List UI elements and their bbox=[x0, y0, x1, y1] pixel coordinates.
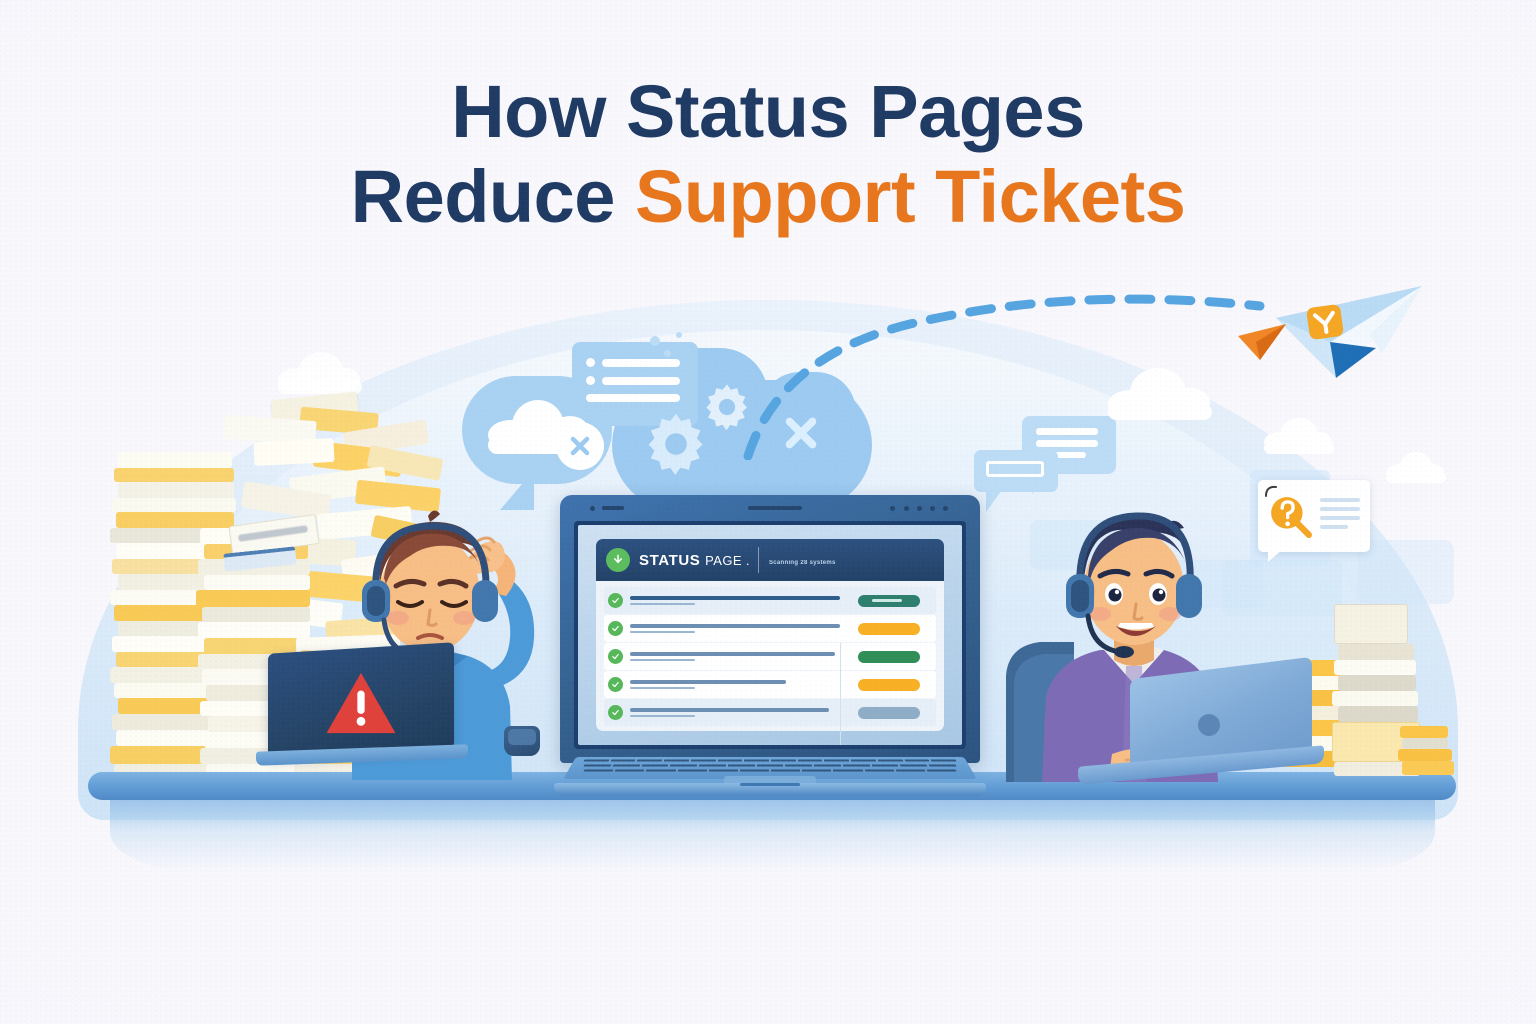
status-badge-cell bbox=[846, 623, 932, 635]
paper-stack-item bbox=[1334, 604, 1408, 644]
status-row[interactable] bbox=[604, 699, 936, 726]
close-icon-glyph bbox=[568, 434, 592, 458]
status-row[interactable] bbox=[604, 587, 936, 614]
check-glyph bbox=[611, 708, 620, 717]
status-page-title-bold: STATUS bbox=[639, 552, 700, 569]
chat-list-dot bbox=[586, 376, 595, 385]
paper-stack-item bbox=[1338, 675, 1416, 691]
bezel-bar-left bbox=[602, 506, 624, 510]
status-badge bbox=[858, 651, 920, 663]
paper-stack-item bbox=[1332, 691, 1418, 706]
status-column-separator bbox=[840, 643, 841, 745]
paper-stack-item bbox=[1400, 726, 1448, 738]
status-badge bbox=[858, 707, 920, 719]
info-card-line bbox=[1320, 516, 1360, 520]
title-line-2: Reduce Support Tickets bbox=[0, 159, 1536, 234]
left-laptop bbox=[268, 648, 468, 780]
download-arrow-glyph bbox=[611, 553, 625, 567]
bezel-dot bbox=[917, 506, 922, 511]
check-circle-icon bbox=[608, 593, 623, 608]
computer-mouse-icon bbox=[504, 726, 540, 756]
chat-list-dot bbox=[586, 358, 595, 367]
decor-card bbox=[1358, 540, 1454, 604]
paper-stack-item bbox=[202, 607, 310, 622]
laptop-lid: STATUS PAGE . Scanning 28 systems bbox=[560, 495, 980, 763]
title-line-1: How Status Pages bbox=[0, 74, 1536, 149]
paper-stack-item bbox=[116, 512, 234, 528]
check-glyph bbox=[611, 652, 620, 661]
magnifier-question-icon bbox=[1268, 494, 1312, 538]
paper-stack-item bbox=[1402, 738, 1448, 749]
status-row-text-placeholder bbox=[630, 652, 846, 661]
key-row bbox=[583, 764, 957, 766]
check-circle-icon bbox=[608, 649, 623, 664]
desk-reflection bbox=[110, 798, 1435, 872]
status-badge bbox=[858, 623, 920, 635]
decor-spark bbox=[676, 332, 682, 338]
page-title: How Status Pages Reduce Support Tickets bbox=[0, 74, 1536, 235]
status-page-meta: Scanning 28 systems bbox=[769, 551, 934, 569]
laptop-base-notch bbox=[740, 783, 800, 786]
status-row[interactable] bbox=[604, 643, 936, 670]
status-badge bbox=[858, 595, 920, 607]
laptop-bezel: STATUS PAGE . Scanning 28 systems bbox=[574, 521, 966, 749]
status-row-text-placeholder bbox=[630, 624, 846, 633]
check-circle-icon bbox=[608, 705, 623, 720]
check-glyph bbox=[611, 624, 620, 633]
info-card[interactable] bbox=[1258, 480, 1370, 552]
paper-stack-item bbox=[204, 575, 310, 590]
bezel-dot bbox=[590, 506, 595, 511]
paper-plane-icon bbox=[1272, 282, 1432, 392]
info-card-tail bbox=[1268, 550, 1282, 562]
right-laptop bbox=[1078, 668, 1318, 786]
paper-stack-item bbox=[118, 482, 234, 498]
close-x-circle-icon bbox=[556, 422, 604, 470]
chat-list-line bbox=[586, 394, 680, 402]
check-glyph bbox=[611, 680, 620, 689]
laptop-screen: STATUS PAGE . Scanning 28 systems bbox=[578, 525, 962, 745]
paper-stack-item bbox=[118, 452, 232, 468]
status-row-text-placeholder bbox=[630, 680, 846, 689]
chat-list-line bbox=[602, 377, 680, 385]
center-laptop: STATUS PAGE . Scanning 28 systems bbox=[560, 495, 980, 795]
status-page-body bbox=[596, 581, 944, 731]
laptop-keyboard[interactable] bbox=[584, 759, 956, 773]
title-line-2-orange: Support Tickets bbox=[635, 155, 1185, 238]
bezel-dot bbox=[930, 506, 935, 511]
decor-spark bbox=[650, 336, 660, 346]
status-page-header: STATUS PAGE . Scanning 28 systems bbox=[596, 539, 944, 581]
page-fold-icon bbox=[1264, 484, 1280, 498]
paper-stack-item bbox=[196, 590, 310, 607]
check-glyph bbox=[611, 596, 620, 605]
bezel-bar-center bbox=[748, 506, 802, 510]
chat-list-line bbox=[602, 359, 680, 367]
paper-stack-item bbox=[112, 498, 236, 512]
info-card-lines bbox=[1320, 498, 1360, 534]
status-badge-cell bbox=[846, 679, 932, 691]
bezel-dot bbox=[890, 506, 895, 511]
status-page-title: STATUS PAGE . bbox=[639, 552, 750, 569]
paper-stack-item bbox=[1338, 706, 1418, 722]
check-circle-icon bbox=[608, 677, 623, 692]
check-circle-icon bbox=[608, 621, 623, 636]
status-badge bbox=[858, 679, 920, 691]
status-page-title-light: PAGE . bbox=[705, 553, 750, 568]
header-divider bbox=[758, 547, 759, 573]
right-laptop-logo bbox=[1198, 714, 1220, 736]
paper-stack-item bbox=[1338, 644, 1414, 660]
title-line-2-navy: Reduce bbox=[351, 155, 635, 238]
warning-triangle-icon bbox=[324, 670, 398, 736]
status-row-text-placeholder bbox=[630, 708, 846, 717]
status-badge-cell bbox=[846, 595, 932, 607]
info-card-line bbox=[1320, 507, 1360, 511]
paper-stack-item bbox=[1334, 660, 1416, 675]
key-row bbox=[583, 759, 957, 761]
envelope-item bbox=[253, 438, 334, 466]
status-row-text-placeholder bbox=[630, 596, 846, 605]
paper-stack-item bbox=[1402, 761, 1454, 775]
info-card-line bbox=[1320, 525, 1348, 529]
illustration-canvas: TICKETS bbox=[0, 0, 1536, 1024]
status-row[interactable] bbox=[604, 671, 936, 698]
key-row bbox=[583, 769, 957, 771]
paper-stack-item bbox=[114, 468, 234, 482]
bezel-dot bbox=[943, 506, 948, 511]
bezel-dot bbox=[904, 506, 909, 511]
status-row[interactable] bbox=[604, 615, 936, 642]
status-page-meta-text: Scanning 28 systems bbox=[769, 560, 836, 566]
info-card-line bbox=[1320, 498, 1360, 502]
status-badge-cell bbox=[846, 651, 932, 663]
status-badge-cell bbox=[846, 707, 932, 719]
arrow-tip-icon bbox=[1234, 318, 1290, 366]
laptop-keyboard-area bbox=[554, 757, 986, 797]
download-arrow-circle-icon bbox=[606, 548, 630, 572]
paper-stack-item bbox=[198, 622, 310, 638]
decor-spark bbox=[664, 350, 671, 357]
paper-stack-item bbox=[1398, 749, 1452, 761]
